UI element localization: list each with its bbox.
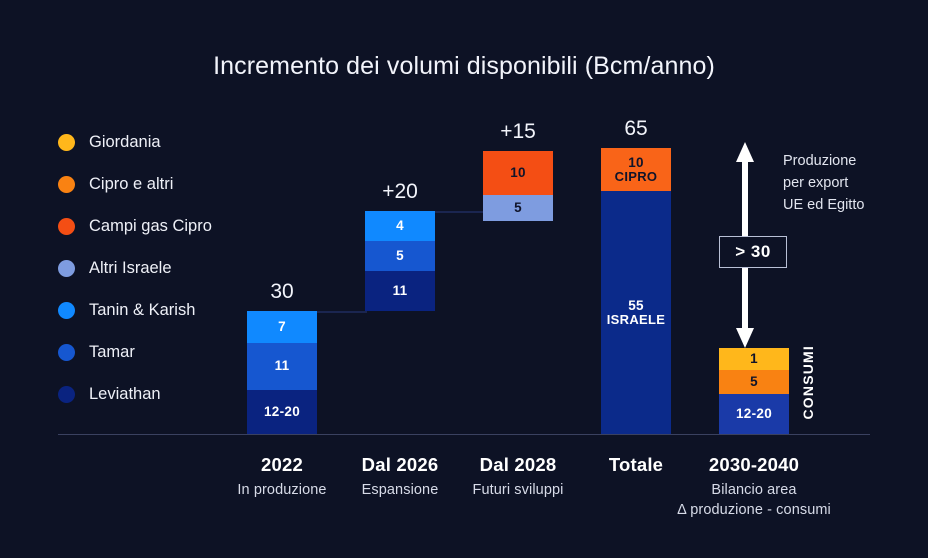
xaxis-label-sub: Bilancio area [669,482,839,498]
bar-segment-value: 10 [628,156,644,170]
bar-segment-value: 10 [510,166,526,180]
legend-color-swatch [58,386,75,403]
bar-segment-value: 11 [275,359,290,373]
bar-segment-value: 55 [628,299,644,313]
legend-color-swatch [58,176,75,193]
legend-color-swatch [58,302,75,319]
bar-segment-value: 11 [393,284,408,298]
legend-item-tanin-karish: Tanin & Karish [58,289,258,331]
legend-item-label: Altri Israele [89,259,172,278]
bar-segment-tanin-karish: 7 [247,311,317,343]
bar-segment-campi-gas-cipro: 10 [483,151,553,195]
export-note-line3: UE ed Egitto [783,194,864,216]
bar-segment-leviathan: 12-20 [719,394,789,434]
bar-segment-israele: 55 ISRAELE [601,191,671,434]
export-note: Produzione per export UE ed Egitto [783,150,864,216]
bar-total-dal2026: +20 [365,180,435,204]
legend-item-altri-israele: Altri Israele [58,247,258,289]
bar-segment-value: 12-20 [736,407,772,421]
bar-segment-tamar: 11 [247,343,317,390]
legend-item-campi-gas-cipro: Campi gas Cipro [58,205,258,247]
bar-2022: 7 11 12-20 [247,311,317,434]
legend-color-swatch [58,134,75,151]
legend: Giordania Cipro e altri Campi gas Cipro … [58,121,258,415]
bar-dal2026: 4 5 11 [365,211,435,311]
legend-item-label: Tanin & Karish [89,301,195,320]
consumi-axis-label: CONSUMI [800,345,816,420]
legend-item-label: Tamar [89,343,135,362]
legend-item-giordania: Giordania [58,121,258,163]
legend-item-label: Giordania [89,133,161,152]
bar-segment-value: 7 [278,320,286,334]
bar-dal2028: 10 5 [483,151,553,221]
bar-segment-cipro: 10 CIPRO [601,148,671,191]
legend-item-tamar: Tamar [58,331,258,373]
bar-segment-altri-israele: 5 [483,195,553,221]
xaxis-label-sub: Futuri sviluppi [433,482,603,498]
bar-segment-leviathan: 11 [365,271,435,311]
axis-baseline [58,434,870,435]
bar-segment-value: 4 [396,219,404,233]
bar-totale: 10 CIPRO 55 ISRAELE [601,148,671,434]
export-note-line2: per export [783,172,864,194]
bar-segment-value: 5 [514,201,522,215]
bar-segment-giordania: 1 [719,348,789,370]
bar-segment-value: 5 [396,249,404,263]
bar-segment-cipro-e-altri: 5 [719,370,789,394]
legend-item-leviathan: Leviathan [58,373,258,415]
legend-item-label: Cipro e altri [89,175,173,194]
chart-root: Incremento dei volumi disponibili (Bcm/a… [0,0,928,558]
legend-color-swatch [58,344,75,361]
bar-segment-leviathan: 12-20 [247,390,317,434]
bar-total-dal2028: +15 [483,120,553,144]
legend-color-swatch [58,260,75,277]
bar-total-totale: 65 [601,117,671,141]
legend-item-label: Campi gas Cipro [89,217,212,236]
gap-value-badge: > 30 [719,236,787,268]
bar-segment-tamar: 5 [365,241,435,271]
bar-segment-sublabel: ISRAELE [607,313,665,327]
legend-item-cipro-e-altri: Cipro e altri [58,163,258,205]
legend-color-swatch [58,218,75,235]
xaxis-label-main: 2030-2040 [669,454,839,476]
bar-segment-value: 12-20 [264,405,300,419]
xaxis-label-2030-2040: 2030-2040 Bilancio area Δ produzione - c… [669,454,839,518]
page-title: Incremento dei volumi disponibili (Bcm/a… [0,52,928,81]
bar-segment-sublabel: CIPRO [615,170,658,184]
bar-segment-value: 5 [750,375,758,389]
legend-item-label: Leviathan [89,385,161,404]
bar-total-2022: 30 [247,280,317,304]
export-note-line1: Produzione [783,150,864,172]
bar-segment-tanin-karish: 4 [365,211,435,241]
bar-2030-2040: 1 5 12-20 [719,348,789,434]
xaxis-label-sub2: Δ produzione - consumi [669,502,839,518]
bar-segment-value: 1 [750,352,758,366]
